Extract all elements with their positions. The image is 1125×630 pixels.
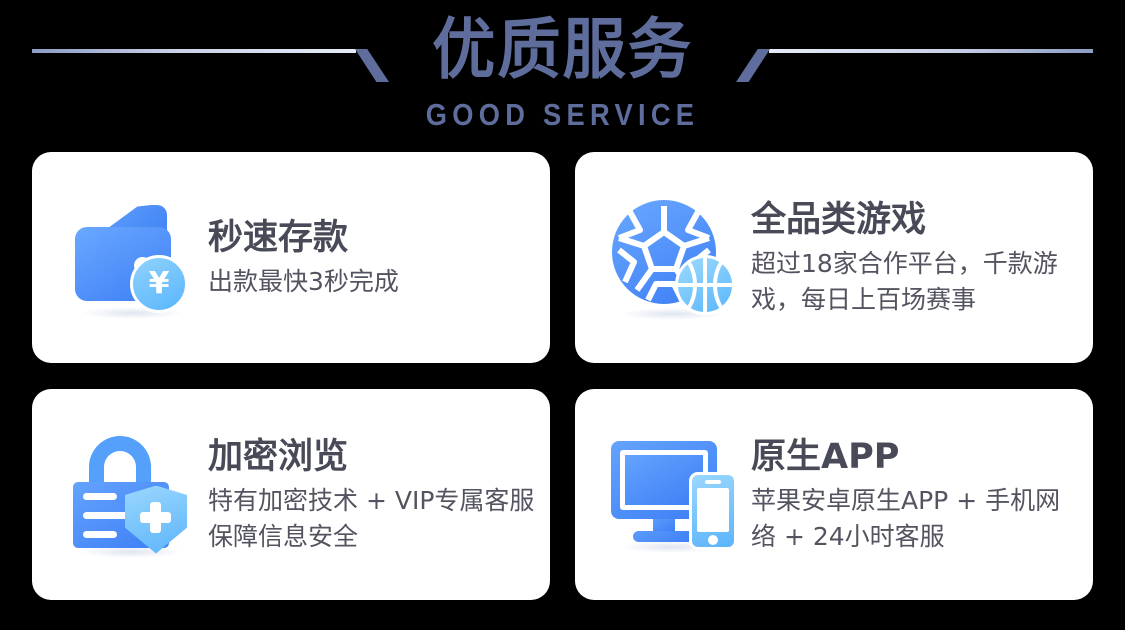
- card-title: 秒速存款: [208, 216, 399, 260]
- card-text-block: 原生APP 苹果安卓原生APP + 手机网络 + 24小时客服: [745, 435, 1093, 555]
- card-text-block: 秒速存款 出款最快3秒完成: [202, 216, 411, 300]
- lock-shield-icon: [71, 434, 193, 556]
- card-title: 全品类游戏: [751, 198, 1081, 242]
- feature-card-games[interactable]: 全品类游戏 超过18家合作平台，千款游戏，每日上百场赛事: [575, 152, 1093, 363]
- card-icon-slot: [62, 425, 202, 565]
- monitor-phone-icon: [611, 439, 739, 551]
- phone-screen: [697, 488, 729, 532]
- soccer-basketball-icon: [612, 198, 738, 318]
- card-description: 出款最快3秒完成: [208, 264, 399, 300]
- page-subtitle: GOOD SERVICE: [68, 97, 1058, 133]
- wallet-coin-icon: ¥: [72, 199, 192, 317]
- card-icon-slot: ¥: [62, 188, 202, 328]
- basketball-icon: [675, 255, 735, 315]
- card-icon-slot: [605, 188, 745, 328]
- feature-card-encryption[interactable]: 加密浏览 特有加密技术 + VIP专属客服保障信息安全: [32, 389, 550, 600]
- feature-card-deposit[interactable]: ¥ 秒速存款 出款最快3秒完成: [32, 152, 550, 363]
- page-title: 优质服务: [23, 11, 1103, 89]
- lock-dash: [83, 531, 117, 538]
- banner-header: 优质服务 GOOD SERVICE: [0, 0, 1125, 145]
- card-description: 特有加密技术 + VIP专属客服保障信息安全: [208, 483, 538, 555]
- plus-icon: [140, 512, 171, 523]
- card-description: 苹果安卓原生APP + 手机网络 + 24小时客服: [751, 483, 1081, 555]
- phone-home-button: [708, 535, 718, 545]
- lock-dash: [83, 493, 117, 500]
- card-description: 超过18家合作平台，千款游戏，每日上百场赛事: [751, 246, 1081, 318]
- phone-speaker: [705, 480, 721, 484]
- feature-card-grid: ¥ 秒速存款 出款最快3秒完成: [32, 152, 1093, 600]
- yen-coin-icon: ¥: [130, 255, 188, 313]
- monitor-base: [633, 531, 695, 542]
- card-title: 加密浏览: [208, 435, 538, 479]
- card-title: 原生APP: [751, 435, 1081, 479]
- card-text-block: 加密浏览 特有加密技术 + VIP专属客服保障信息安全: [202, 435, 550, 555]
- card-text-block: 全品类游戏 超过18家合作平台，千款游戏，每日上百场赛事: [745, 198, 1093, 318]
- feature-card-native-app[interactable]: 原生APP 苹果安卓原生APP + 手机网络 + 24小时客服: [575, 389, 1093, 600]
- card-icon-slot: [605, 425, 745, 565]
- promo-banner: 优质服务 GOOD SERVICE ¥ 秒速存款 出款最快3秒完成: [0, 0, 1125, 630]
- phone-icon: [689, 472, 737, 550]
